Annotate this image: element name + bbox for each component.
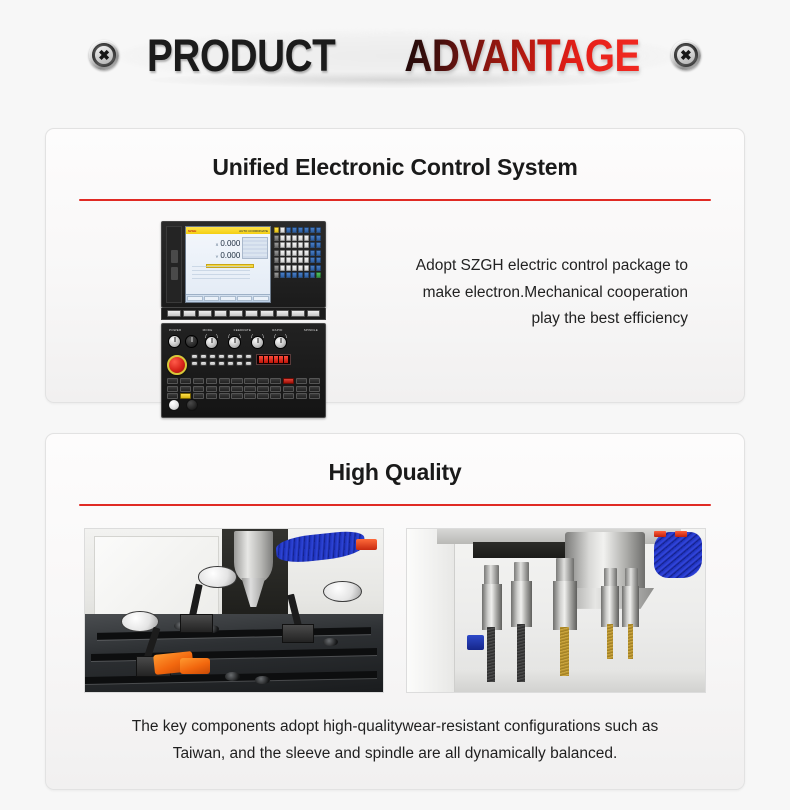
card-high-quality: High Quality xyxy=(45,433,745,790)
operator-key-matrix xyxy=(167,378,320,399)
cnc-control-unit: SZGH AUTO COORDINATE X 0.000 Y 0.00 xyxy=(161,221,326,308)
tool-holder-icon-3 xyxy=(553,581,577,630)
cycle-control-buttons xyxy=(168,399,198,411)
cnc-controller-photo: SZGH AUTO COORDINATE X 0.000 Y 0.00 xyxy=(161,221,326,418)
medallion-x-glyph-left: ✖ xyxy=(89,40,119,70)
drill-bit-icon-1 xyxy=(487,627,494,682)
rapid-override-knob-icon xyxy=(251,336,264,349)
medallion-x-glyph-right: ✖ xyxy=(671,40,701,70)
card-unified-electronic-control-system: Unified Electronic Control System SZGH A… xyxy=(45,128,745,403)
led-readout-display xyxy=(256,354,291,365)
tool-holder-icon-5 xyxy=(622,586,640,627)
clamp-handle-icon-2 xyxy=(180,658,210,674)
cnc-screen-body: X 0.000 Y 0.000 xyxy=(186,234,270,294)
page-title-primary: PRODUCT xyxy=(144,33,336,78)
screw-medallion-icon-right: ✖ xyxy=(671,40,701,70)
cnc-screen-titlebar: SZGH AUTO COORDINATE xyxy=(186,227,270,234)
power-off-knob-icon xyxy=(185,335,198,348)
cnc-lcd-screen: SZGH AUTO COORDINATE X 0.000 Y 0.00 xyxy=(185,226,271,303)
tool-holder-icon-4 xyxy=(601,586,619,627)
machine-table-photo xyxy=(84,528,384,693)
card-title: Unified Electronic Control System xyxy=(46,129,744,181)
caption-line-2: Taiwan, and the sleeve and spindle are a… xyxy=(76,740,714,767)
tool-holder-icon-1 xyxy=(482,584,503,630)
drill-bit-icon-2 xyxy=(517,624,524,683)
axis-jog-key-cluster xyxy=(191,352,252,366)
dial-indicator-icon-center xyxy=(198,566,237,587)
body-line-2: make electron.Mechanical cooperation xyxy=(348,280,688,307)
cycle-start-button-icon xyxy=(168,399,180,411)
cnc-axis-y-value: 0.000 xyxy=(220,251,240,260)
operator-panel-labels: POWERMODEFEEDRATERAPIDSPINDLE xyxy=(167,328,320,332)
page-title-accent: ADVANTAGE xyxy=(404,33,642,78)
cnc-function-key-row xyxy=(161,308,326,320)
card-title: High Quality xyxy=(46,434,744,486)
card-body-text: Adopt SZGH electric control package to m… xyxy=(348,221,712,333)
cnc-brand-label: SZGH xyxy=(188,229,196,233)
cnc-program-list xyxy=(242,237,268,259)
product-advantage-page: ✖ PRODUCT ADVANTAGE ✖ Unified Electronic… xyxy=(0,0,790,810)
spindle-override-knob-icon xyxy=(274,336,287,349)
operator-knob-row xyxy=(167,334,320,349)
tool-holder-icon-2 xyxy=(511,581,532,627)
cnc-side-ports xyxy=(166,226,182,303)
cnc-axis-x-label: X xyxy=(216,242,219,247)
card-caption-text: The key components adopt high-qualitywea… xyxy=(46,693,744,767)
feedrate-override-knob-icon xyxy=(228,336,241,349)
coolant-nozzle-cluster-icon xyxy=(654,532,702,578)
caption-line-1: The key components adopt high-qualitywea… xyxy=(76,713,714,740)
power-on-knob-icon xyxy=(168,335,181,348)
cnc-parameter-grid xyxy=(192,266,250,282)
screw-medallion-icon-left: ✖ xyxy=(89,40,119,70)
blue-chuck-icon xyxy=(467,635,485,650)
cnc-mode-label: AUTO COORDINATE xyxy=(239,229,268,233)
drill-bit-icon-5 xyxy=(628,624,634,660)
drill-bit-icon-4 xyxy=(607,624,613,660)
body-line-3: play the best efficiency xyxy=(348,306,688,333)
cnc-operator-panel: POWERMODEFEEDRATERAPIDSPINDLE xyxy=(161,323,326,418)
tool-magazine-photo xyxy=(406,528,706,693)
emergency-stop-button-icon xyxy=(167,355,187,375)
coolant-nozzle-icon xyxy=(356,539,377,550)
cnc-axis-y-label: Y xyxy=(216,254,219,259)
cnc-keypad xyxy=(274,226,321,303)
mode-selector-knob-icon xyxy=(205,336,218,349)
drill-bit-icon-3 xyxy=(560,627,569,676)
cnc-axis-x-value: 0.000 xyxy=(220,239,240,248)
page-header: ✖ PRODUCT ADVANTAGE ✖ xyxy=(0,0,790,110)
cycle-stop-button-icon xyxy=(186,399,198,411)
body-line-1: Adopt SZGH electric control package to xyxy=(348,253,688,280)
cnc-softkey-bar xyxy=(186,294,270,302)
